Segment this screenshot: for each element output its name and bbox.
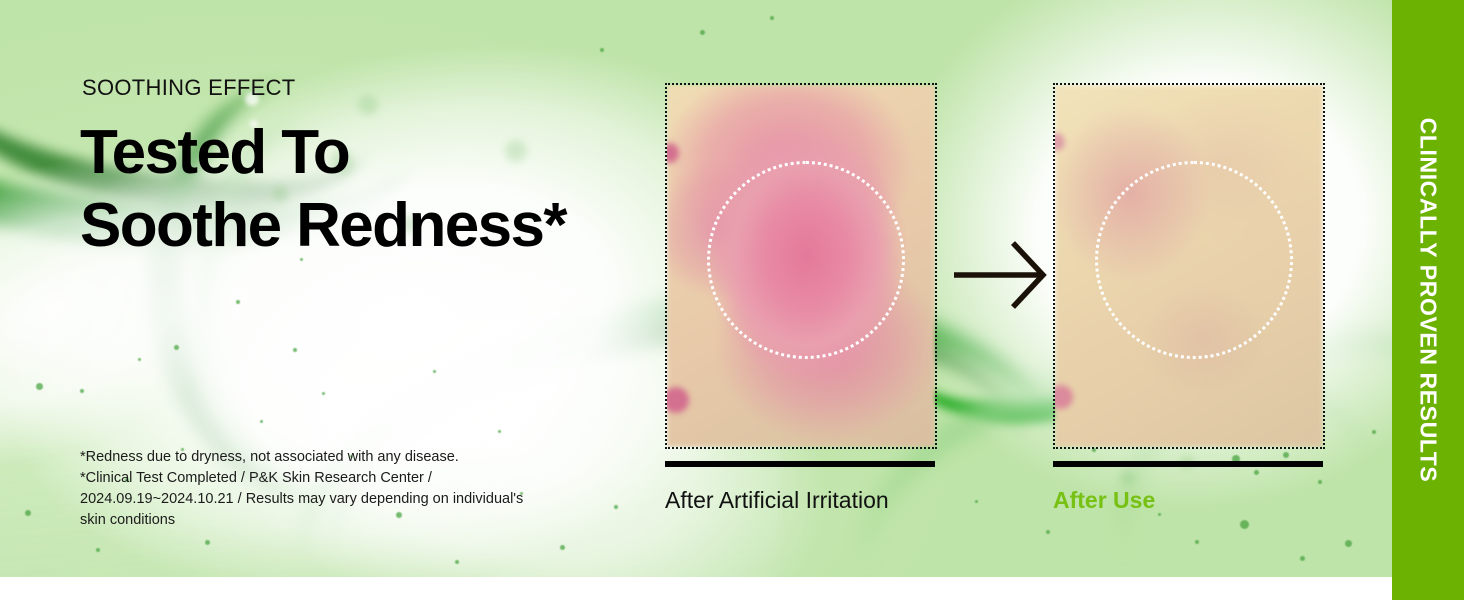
before-caption: After Artificial Irritation: [665, 487, 889, 514]
before-caption-rule: [665, 461, 935, 467]
clinically-proven-rail: CLINICALLY PROVEN RESULTS: [1392, 0, 1464, 600]
rail-label: CLINICALLY PROVEN RESULTS: [1415, 118, 1442, 483]
soothing-effect-banner: SOOTHING EFFECT Tested To Soothe Redness…: [0, 0, 1464, 600]
page-title: Tested To Soothe Redness*: [80, 116, 566, 262]
after-region-marker: [1095, 161, 1293, 359]
after-caption-rule: [1053, 461, 1323, 467]
after-photo-panel: [1053, 83, 1325, 449]
before-region-marker: [707, 161, 905, 359]
disclaimer-text: *Redness due to dryness, not associated …: [80, 447, 600, 531]
before-photo-panel: [665, 83, 937, 449]
after-caption: After Use: [1053, 487, 1155, 514]
eyebrow-label: SOOTHING EFFECT: [82, 75, 296, 101]
arrow-right-icon: [952, 236, 1052, 314]
